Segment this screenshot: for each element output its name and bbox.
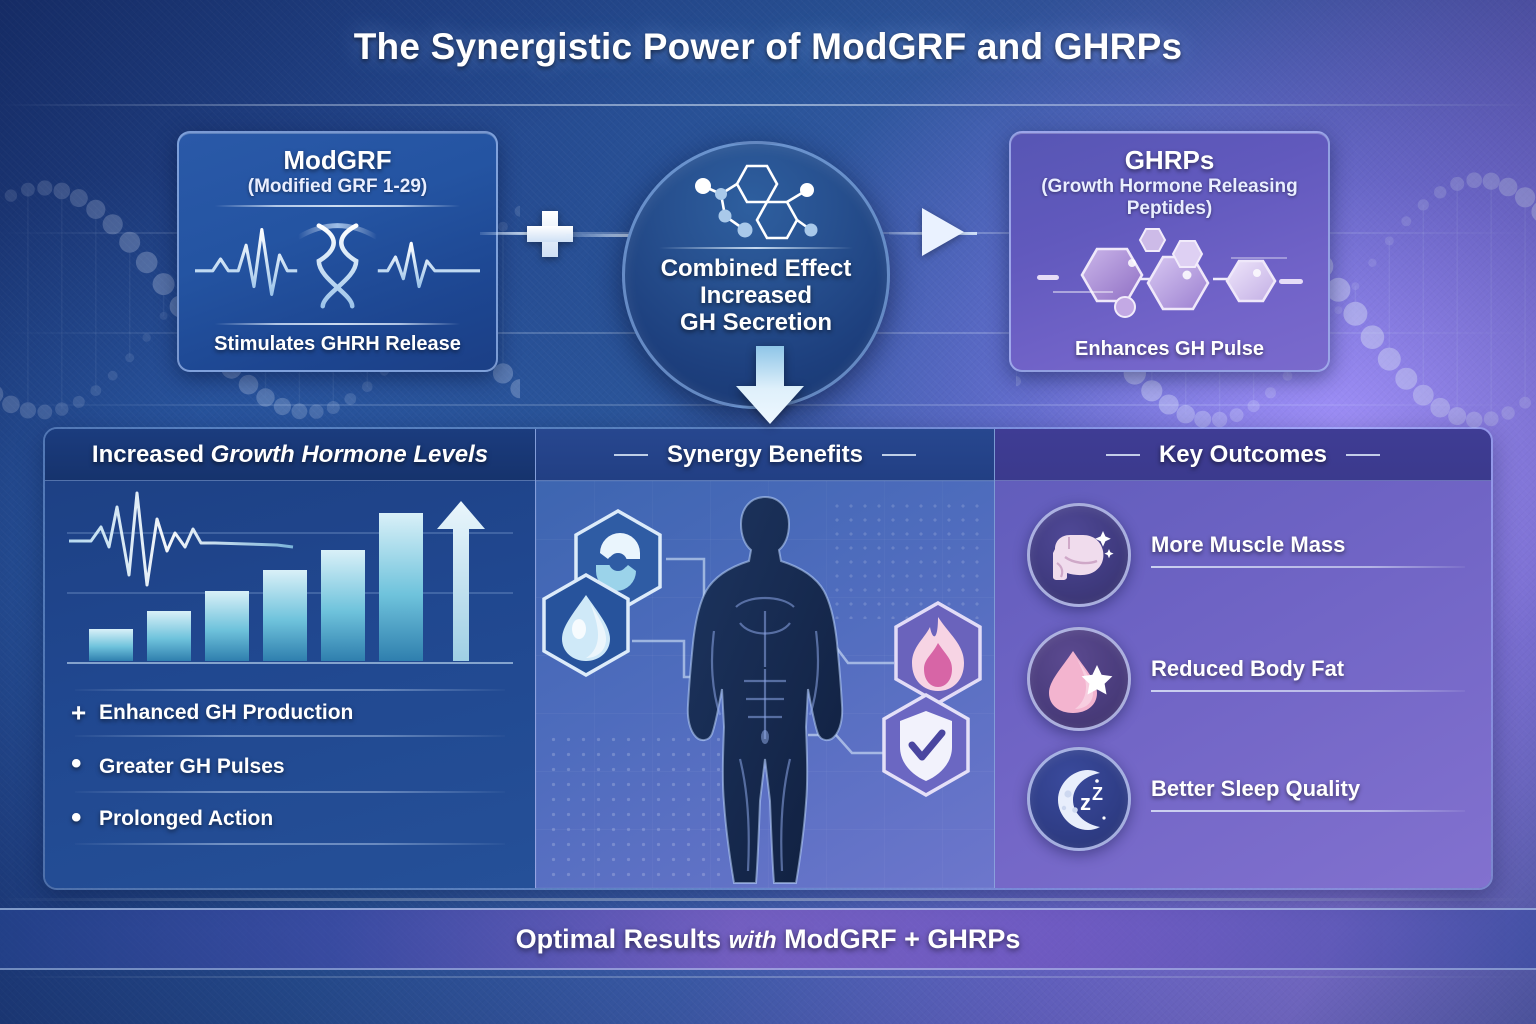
list-item[interactable]: • Greater GH Pulses: [45, 737, 535, 791]
outcome-icon-circle: z Z: [1027, 747, 1131, 851]
chart-bars: [89, 513, 423, 661]
gh-bar-chart: [67, 489, 513, 669]
panel-key-outcomes-header: Key Outcomes: [995, 429, 1491, 481]
outcome-icon-circle: [1027, 627, 1131, 731]
outcome-icon-circle: [1027, 503, 1131, 607]
dash-left: [614, 454, 648, 456]
shield-check-icon[interactable]: [880, 693, 972, 797]
flexed-bicep-icon: [1043, 519, 1115, 591]
header-bold: Increased: [92, 441, 204, 468]
list-item[interactable]: + Enhanced GH Production: [45, 691, 535, 735]
svg-text:z: z: [1080, 790, 1091, 815]
card-modgrf-art: [195, 207, 480, 316]
panel-synergy-benefits[interactable]: Synergy Benefits: [535, 429, 995, 888]
outcome-text-wrap: More Muscle Mass: [1151, 532, 1465, 578]
molecule-icon: [689, 160, 823, 242]
list-item[interactable]: • Prolonged Action: [45, 793, 535, 843]
upward-trend-arrow: [437, 501, 485, 661]
arrow-right-icon: [922, 208, 964, 256]
panel-gh-levels[interactable]: Increased Growth Hormone Levels: [45, 429, 535, 888]
panel-synergy-body: [536, 481, 994, 888]
card-ghrps-art: [1027, 227, 1312, 323]
gh-benefit-list: + Enhanced GH Production • Greater GH Pu…: [45, 689, 535, 845]
muscular-body-silhouette: [670, 491, 860, 887]
list-item[interactable]: More Muscle Mass: [1027, 503, 1465, 607]
panels-container: Increased Growth Hormone Levels: [43, 427, 1493, 890]
dash-left: [1106, 454, 1140, 456]
gh-item-label: Prolonged Action: [99, 807, 273, 830]
outcome-label: More Muscle Mass: [1151, 532, 1465, 558]
panel-synergy-title: Synergy Benefits: [602, 441, 927, 469]
panel-key-outcomes[interactable]: Key Outcomes: [995, 429, 1491, 888]
header-italic: Growth Hormone Levels: [211, 441, 488, 468]
key-outcomes-header-label: Key Outcomes: [1159, 441, 1327, 468]
gh-item-label: Greater GH Pulses: [99, 755, 285, 778]
divider: [1151, 690, 1465, 692]
water-drop-icon[interactable]: [540, 573, 632, 677]
card-modgrf[interactable]: ModGRF (Modified GRF 1-29): [177, 131, 498, 372]
card-modgrf-subtitle: (Modified GRF 1-29): [248, 176, 427, 198]
list-item[interactable]: z Z Better Sleep Quality: [1027, 747, 1465, 851]
dash-right: [1346, 454, 1380, 456]
gh-item-label: Enhanced GH Production: [99, 701, 353, 724]
page-title: The Synergistic Power of ModGRF and GHRP…: [0, 26, 1536, 68]
outcome-label: Reduced Body Fat: [1151, 656, 1465, 682]
card-ghrps-subtitle: (Growth Hormone Releasing Peptides): [1027, 176, 1312, 219]
dna-helix-pulse-icon: [195, 209, 480, 313]
footer-bold-2: ModGRF + GHRPs: [784, 924, 1020, 954]
panel-gh-levels-title: Increased Growth Hormone Levels: [92, 441, 488, 469]
panel-gh-levels-header: Increased Growth Hormone Levels: [45, 429, 535, 481]
footer-banner: Optimal Results with ModGRF + GHRPs: [0, 908, 1536, 970]
divider: [659, 247, 853, 249]
hexagon-molecule-icon: [1035, 227, 1305, 323]
card-modgrf-title: ModGRF: [283, 147, 391, 174]
fat-drop-star-icon: [1043, 643, 1115, 715]
outcome-label: Better Sleep Quality: [1151, 776, 1465, 802]
bullet-marker-icon: •: [71, 755, 82, 773]
arrow-down-icon: [726, 346, 814, 426]
card-ghrps-footer: Enhances GH Pulse: [1075, 338, 1264, 363]
panel-gh-levels-body: + Enhanced GH Production • Greater GH Pu…: [45, 481, 535, 888]
divider: [75, 843, 505, 845]
card-ghrps[interactable]: GHRPs (Growth Hormone Releasing Peptides…: [1009, 131, 1330, 372]
divider: [215, 323, 460, 325]
connector-line-left: [480, 232, 532, 235]
bullet-marker-icon: •: [71, 809, 82, 827]
combined-effect-line1: Combined Effect: [661, 255, 852, 282]
combined-effect-line3: GH Secretion: [680, 309, 832, 336]
panel-key-outcomes-title: Key Outcomes: [1094, 441, 1391, 469]
outcome-text-wrap: Better Sleep Quality: [1151, 776, 1465, 822]
outcome-text-wrap: Reduced Body Fat: [1151, 656, 1465, 702]
combined-effect-line2: Increased: [700, 282, 812, 309]
dash-right: [882, 454, 916, 456]
panel-synergy-header: Synergy Benefits: [536, 429, 994, 481]
panel-key-outcomes-body: More Muscle Mass Reduced Body Fat: [995, 481, 1491, 888]
plus-marker-icon: +: [71, 698, 86, 729]
connector-line-mid: [566, 234, 636, 237]
list-item[interactable]: Reduced Body Fat: [1027, 627, 1465, 731]
footer-bold-1: Optimal Results: [516, 924, 722, 954]
footer-text: Optimal Results with ModGRF + GHRPs: [516, 924, 1021, 955]
card-ghrps-title: GHRPs: [1125, 147, 1215, 174]
card-modgrf-footer: Stimulates GHRH Release: [214, 333, 461, 358]
flame-icon[interactable]: [892, 601, 984, 705]
footer-italic: with: [729, 927, 777, 954]
moon-zzz-icon: z Z: [1042, 762, 1116, 836]
divider: [1151, 810, 1465, 812]
divider: [1151, 566, 1465, 568]
svg-text:Z: Z: [1092, 784, 1103, 804]
synergy-header-label: Synergy Benefits: [667, 441, 863, 468]
